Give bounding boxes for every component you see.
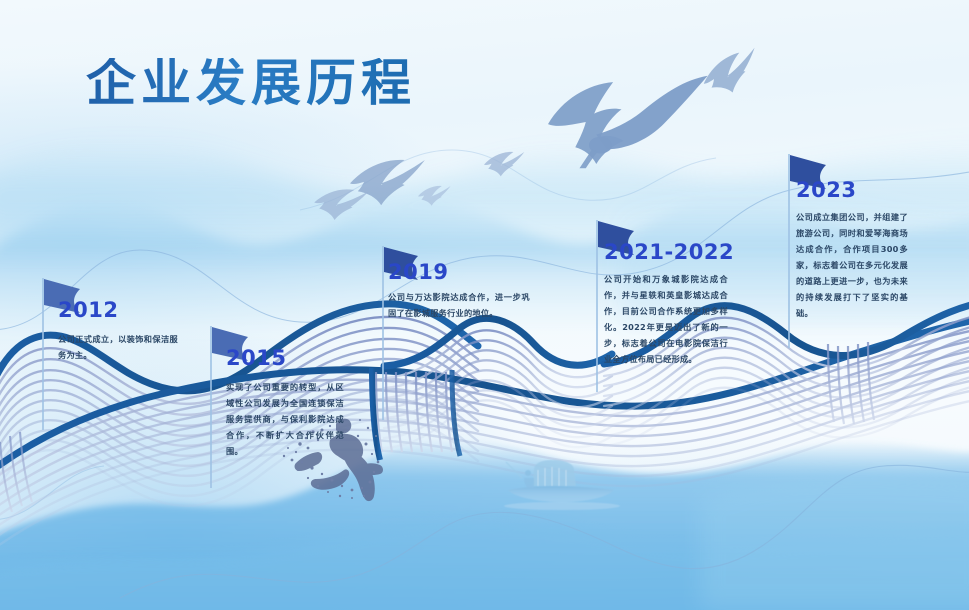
milestone-description: 公司成立集团公司，并组建了旅游公司，同时和爱琴海商场达成合作，合作项目300多家… [796, 210, 908, 322]
milestone-year: 2023 [796, 180, 856, 201]
milestone-description: 实现了公司重要的转型，从区域性公司发展为全国连锁保洁服务提供商，与保利影院达成合… [226, 380, 344, 460]
page-title: 企业发展历程 [86, 58, 416, 108]
milestone-description: 公司开始和万象城影院达成合作，并与星轶和英皇影城达成合作，目前公司合作系统更加多… [604, 272, 728, 368]
milestone-year: 2021-2022 [604, 242, 734, 263]
milestone-description: 公司与万达影院达成合作，进一步巩固了在影城服务行业的地位。 [388, 290, 530, 322]
milestone-description: 公司正式成立，以装饰和保洁服务为主。 [58, 332, 178, 364]
milestone-year: 2015 [226, 348, 286, 369]
seagull-icon [548, 76, 708, 168]
seagull-icon [698, 47, 766, 100]
seagull-icon [484, 152, 524, 176]
seagull-icon [418, 186, 451, 206]
milestone-year: 2012 [58, 300, 118, 321]
poster-canvas: 企业发展历程 2012 公司正式成立，以装饰和保洁服务为主。 2015 实现了公… [0, 0, 969, 610]
milestone-year: 2019 [388, 262, 448, 283]
